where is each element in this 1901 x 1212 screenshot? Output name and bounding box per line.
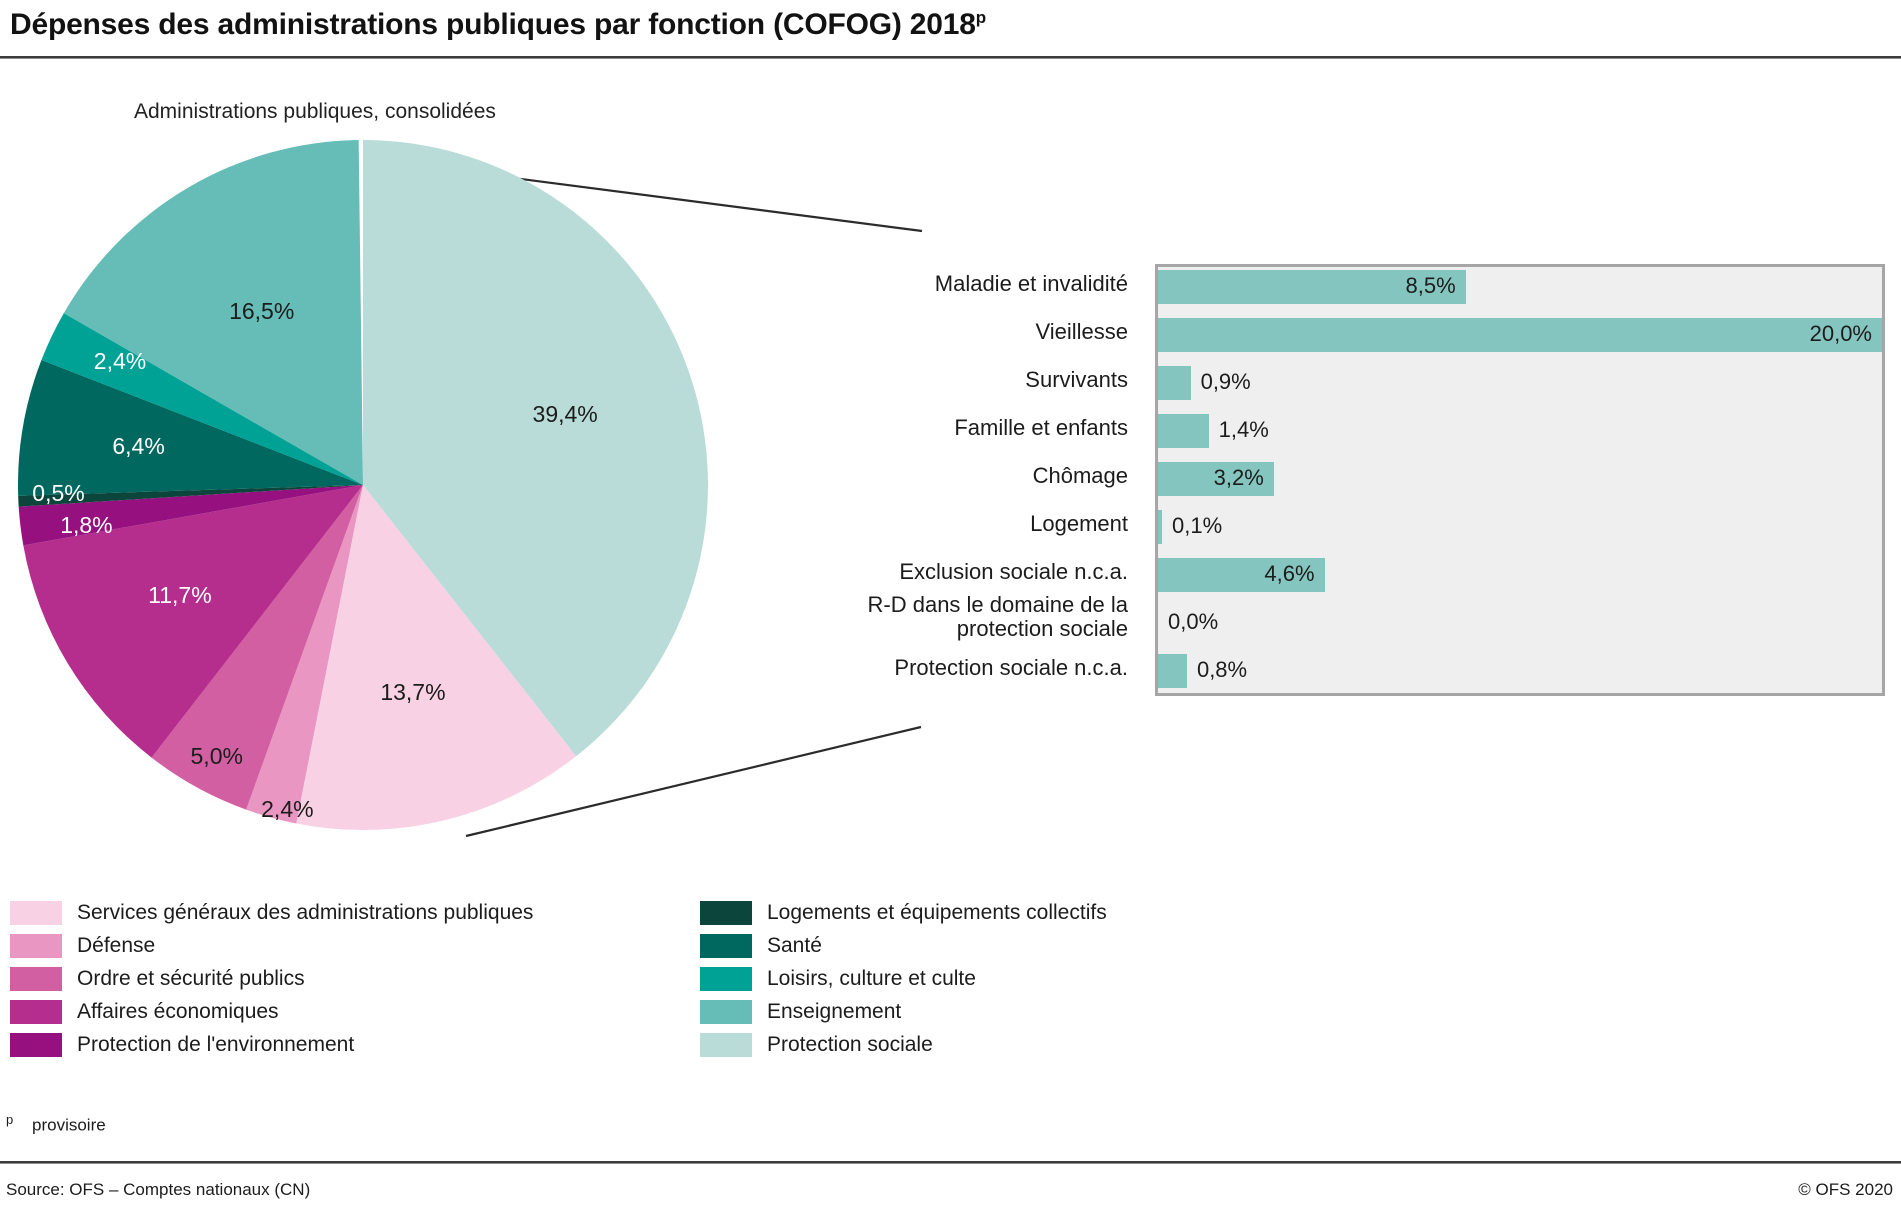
legend-swatch xyxy=(10,1000,62,1024)
legend-item: Défense xyxy=(10,929,670,962)
legend-swatch xyxy=(10,901,62,925)
legend-label: Protection sociale xyxy=(767,1033,933,1057)
legend-item: Protection sociale xyxy=(700,1028,1400,1061)
legend-item: Ordre et sécurité publics xyxy=(10,962,670,995)
legend-swatch xyxy=(10,934,62,958)
legend-column-1: Services généraux des administrations pu… xyxy=(10,896,670,1061)
bar-row: 4,6% xyxy=(1158,558,1882,592)
bar-value-label: 0,9% xyxy=(1201,369,1251,395)
bar-value-label: 1,4% xyxy=(1219,417,1269,443)
page-title-superscript: p xyxy=(976,8,986,27)
bar-category-label: Chômage xyxy=(1033,464,1128,488)
legend-item: Services généraux des administrations pu… xyxy=(10,896,670,929)
bar-category-label: R-D dans le domaine de la protection soc… xyxy=(778,593,1128,641)
chart-subtitle: Administrations publiques, consolidées xyxy=(134,100,496,124)
title-divider xyxy=(0,56,1901,59)
bar-value-label: 0,8% xyxy=(1197,657,1247,683)
legend-swatch xyxy=(700,934,752,958)
legend-item: Logements et équipements collectifs xyxy=(700,896,1400,929)
bar-value-label: 0,1% xyxy=(1172,513,1222,539)
source-text: Source: OFS – Comptes nationaux (CN) xyxy=(6,1180,310,1200)
copyright-text: © OFS 2020 xyxy=(1798,1180,1893,1200)
bar-value-label: 20,0% xyxy=(1810,321,1872,347)
legend-label: Santé xyxy=(767,934,822,958)
bar-fill xyxy=(1158,366,1191,400)
legend: Services généraux des administrations pu… xyxy=(10,896,1510,1056)
legend-item: Affaires économiques xyxy=(10,995,670,1028)
bar-chart-category-labels: Maladie et invaliditéVieillesseSurvivant… xyxy=(620,264,1142,696)
legend-swatch xyxy=(10,1033,62,1057)
legend-swatch xyxy=(10,967,62,991)
bar-row: 1,4% xyxy=(1158,414,1882,448)
legend-item: Santé xyxy=(700,929,1400,962)
bar-value-label: 8,5% xyxy=(1406,273,1456,299)
legend-label: Affaires économiques xyxy=(77,1000,279,1024)
bar-row: 0,0% xyxy=(1158,606,1882,640)
bar-fill xyxy=(1158,414,1209,448)
chart-page: Dépenses des administrations publiques p… xyxy=(0,0,1901,1212)
page-title: Dépenses des administrations publiques p… xyxy=(10,8,986,42)
bar-value-label: 0,0% xyxy=(1168,609,1218,635)
legend-item: Loisirs, culture et culte xyxy=(700,962,1400,995)
bar-fill xyxy=(1158,318,1882,352)
legend-label: Loisirs, culture et culte xyxy=(767,967,976,991)
bar-fill xyxy=(1158,654,1187,688)
legend-swatch xyxy=(700,967,752,991)
legend-label: Enseignement xyxy=(767,1000,901,1024)
footer-divider xyxy=(0,1161,1901,1164)
legend-label: Protection de l'environnement xyxy=(77,1033,354,1057)
legend-swatch xyxy=(700,901,752,925)
footnote-text: provisoire xyxy=(32,1116,106,1135)
bar-fill xyxy=(1158,510,1162,544)
pie-chart xyxy=(18,140,708,830)
legend-label: Logements et équipements collectifs xyxy=(767,901,1107,925)
page-title-text: Dépenses des administrations publiques p… xyxy=(10,8,976,41)
bar-category-label: Survivants xyxy=(1025,368,1128,392)
bar-row: 8,5% xyxy=(1158,270,1882,304)
bar-category-label: Famille et enfants xyxy=(954,416,1128,440)
bar-category-label: Exclusion sociale n.c.a. xyxy=(899,560,1128,584)
bar-row: 0,9% xyxy=(1158,366,1882,400)
bar-row: 0,1% xyxy=(1158,510,1882,544)
bar-chart-rows: 8,5%20,0%0,9%1,4%3,2%0,1%4,6%0,0%0,8% xyxy=(1155,264,1885,696)
legend-swatch xyxy=(700,1033,752,1057)
bar-category-label: Logement xyxy=(1030,512,1128,536)
bar-category-label: Vieillesse xyxy=(1035,320,1128,344)
legend-swatch xyxy=(700,1000,752,1024)
legend-item: Protection de l'environnement xyxy=(10,1028,670,1061)
bar-value-label: 3,2% xyxy=(1214,465,1264,491)
bar-row: 20,0% xyxy=(1158,318,1882,352)
bar-row: 3,2% xyxy=(1158,462,1882,496)
bar-category-label: Protection sociale n.c.a. xyxy=(894,656,1128,680)
legend-column-2: Logements et équipements collectifsSanté… xyxy=(700,896,1400,1061)
bar-category-label: Maladie et invalidité xyxy=(935,272,1128,296)
legend-label: Défense xyxy=(77,934,155,958)
footnote-mark: p xyxy=(6,1112,32,1127)
pie-chart-svg xyxy=(18,140,708,830)
bar-row: 0,8% xyxy=(1158,654,1882,688)
footnote: pprovisoire xyxy=(6,1112,106,1136)
legend-label: Services généraux des administrations pu… xyxy=(77,901,533,925)
legend-item: Enseignement xyxy=(700,995,1400,1028)
legend-label: Ordre et sécurité publics xyxy=(77,967,305,991)
bar-value-label: 4,6% xyxy=(1264,561,1314,587)
